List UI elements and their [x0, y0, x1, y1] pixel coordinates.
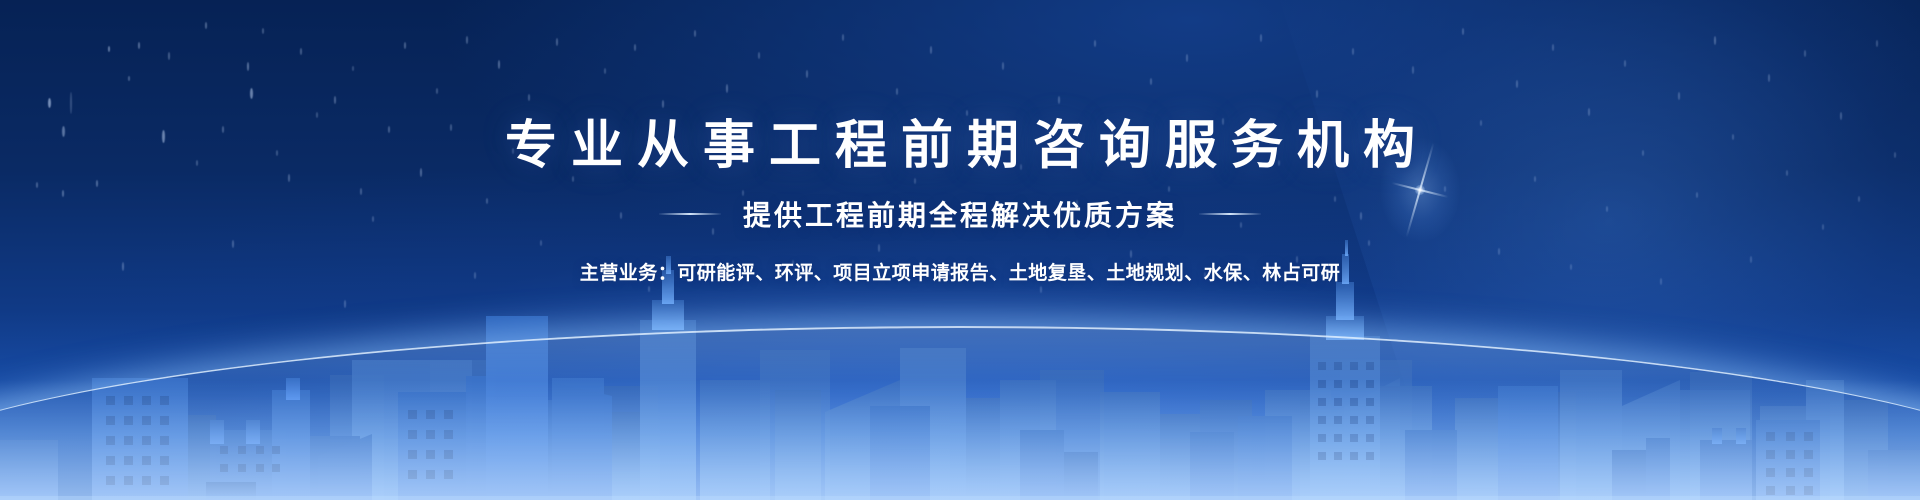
- star-particle: [162, 130, 165, 143]
- star-particle: [1094, 40, 1096, 47]
- star-particle: [1804, 50, 1806, 57]
- star-particle: [404, 42, 406, 49]
- star-particle: [1462, 28, 1464, 35]
- star-particle: [662, 100, 664, 108]
- star-particle: [806, 70, 808, 78]
- horizon-glow-icon: [0, 372, 1920, 500]
- star-particles-layer: [0, 0, 1920, 500]
- star-particle: [1002, 62, 1004, 70]
- star-particle: [1168, 186, 1170, 192]
- star-particle: [1352, 48, 1354, 55]
- star-particle: [1040, 286, 1042, 293]
- star-particle: [1186, 54, 1188, 62]
- banner-headline: 专业从事工程前期咨询服务机构: [491, 118, 1429, 174]
- star-particle: [48, 98, 51, 108]
- bottom-light-wash: [0, 380, 1920, 500]
- light-sweep-decoration: [1261, 0, 1920, 500]
- star-particle: [316, 112, 318, 118]
- banner-content: 专业从事工程前期咨询服务机构 提供工程前期全程解决优质方案 主营业务：可研能评、…: [0, 0, 1920, 500]
- star-particle: [372, 216, 374, 222]
- star-particle: [205, 22, 207, 29]
- star-particle: [1552, 44, 1554, 51]
- star-particle: [62, 126, 65, 137]
- star-particle: [842, 34, 844, 41]
- star-particle: [1624, 60, 1626, 67]
- star-particle: [450, 124, 452, 131]
- star-particle: [288, 174, 290, 182]
- star-particle: [1660, 278, 1662, 285]
- flare-core: [1415, 185, 1425, 195]
- star-particle: [1822, 224, 1824, 230]
- star-particle: [914, 178, 916, 184]
- star-particle: [1130, 250, 1132, 258]
- star-particle: [1714, 36, 1716, 45]
- star-particle: [1588, 108, 1590, 116]
- star-particle: [1768, 74, 1770, 82]
- star-particle: [300, 48, 302, 55]
- banner-subtitle-row: 提供工程前期全程解决优质方案: [659, 194, 1261, 234]
- banner-subtitle: 提供工程前期全程解决优质方案: [743, 194, 1177, 234]
- star-particle: [1858, 196, 1860, 202]
- banner-tagline: 主营业务：可研能评、环评、项目立项申请报告、土地复垦、土地规划、水保、林占可研: [580, 258, 1341, 285]
- star-particle: [604, 68, 606, 74]
- dash-right-icon: [1199, 213, 1261, 215]
- star-particle: [726, 84, 728, 93]
- star-particle: [168, 52, 170, 60]
- star-particle: [648, 286, 650, 292]
- star-particle: [1570, 264, 1572, 270]
- star-particle: [108, 46, 110, 52]
- star-particle: [344, 300, 346, 308]
- star-particle: [1696, 192, 1698, 198]
- star-particle: [498, 60, 500, 69]
- star-particle: [572, 176, 574, 182]
- star-particle: [1334, 196, 1336, 202]
- star-particle: [486, 198, 488, 204]
- star-particle: [528, 94, 530, 101]
- star-particle: [930, 46, 932, 54]
- star-particle: [474, 272, 476, 279]
- star-particle: [276, 150, 278, 156]
- star-particle: [1260, 34, 1262, 42]
- star-particle: [896, 88, 898, 95]
- star-particle: [1894, 152, 1896, 158]
- star-particle: [1444, 186, 1446, 192]
- star-particle: [1480, 120, 1482, 126]
- dash-left-icon: [659, 213, 721, 215]
- star-particle: [1750, 256, 1752, 263]
- star-particle: [556, 38, 558, 46]
- star-particle: [1058, 96, 1060, 104]
- hero-banner: 专业从事工程前期咨询服务机构 提供工程前期全程解决优质方案 主营业务：可研能评、…: [0, 0, 1920, 500]
- star-particle: [1498, 248, 1500, 255]
- star-particle: [128, 76, 130, 81]
- star-particle: [1516, 80, 1518, 88]
- star-particle: [250, 88, 253, 99]
- star-particle: [1840, 112, 1842, 120]
- star-particle: [466, 36, 468, 44]
- star-particle: [1368, 240, 1370, 246]
- star-particle: [122, 262, 124, 271]
- star-particle: [96, 180, 98, 187]
- star-particle: [694, 30, 696, 37]
- star-particle: [36, 182, 38, 188]
- star-particle: [334, 96, 336, 104]
- star-particle: [1678, 92, 1680, 100]
- star-particle: [138, 42, 140, 49]
- star-particle: [634, 44, 636, 51]
- star-particle: [62, 190, 64, 197]
- star-particle: [1150, 78, 1152, 85]
- star-particle: [758, 52, 760, 59]
- city-skyline-icon: [0, 200, 1920, 500]
- horizon-arc-line: [0, 326, 1920, 496]
- star-particle: [262, 28, 264, 34]
- star-particle: [620, 212, 622, 219]
- star-particle: [966, 110, 968, 116]
- star-particle: [222, 126, 224, 133]
- star-particle: [360, 188, 362, 195]
- star-particle: [1316, 90, 1318, 98]
- star-particle: [436, 88, 438, 94]
- star-particle: [232, 240, 234, 248]
- star-particle: [1412, 66, 1414, 74]
- flare-ray-horizontal: [1392, 182, 1449, 198]
- star-particle: [878, 244, 880, 252]
- star-particle: [70, 92, 72, 114]
- star-particle: [196, 160, 198, 166]
- star-particle: [1360, 212, 1362, 220]
- star-particle: [352, 66, 354, 71]
- star-particle: [1642, 150, 1644, 156]
- star-particle: [388, 126, 390, 133]
- star-particle: [1534, 176, 1536, 182]
- star-particle: [1786, 170, 1788, 176]
- star-particle: [247, 62, 249, 71]
- star-particle: [420, 168, 422, 177]
- star-particle: [1606, 206, 1608, 212]
- star-particle: [1876, 40, 1878, 47]
- star-particle: [1732, 134, 1734, 140]
- star-particle: [540, 240, 542, 246]
